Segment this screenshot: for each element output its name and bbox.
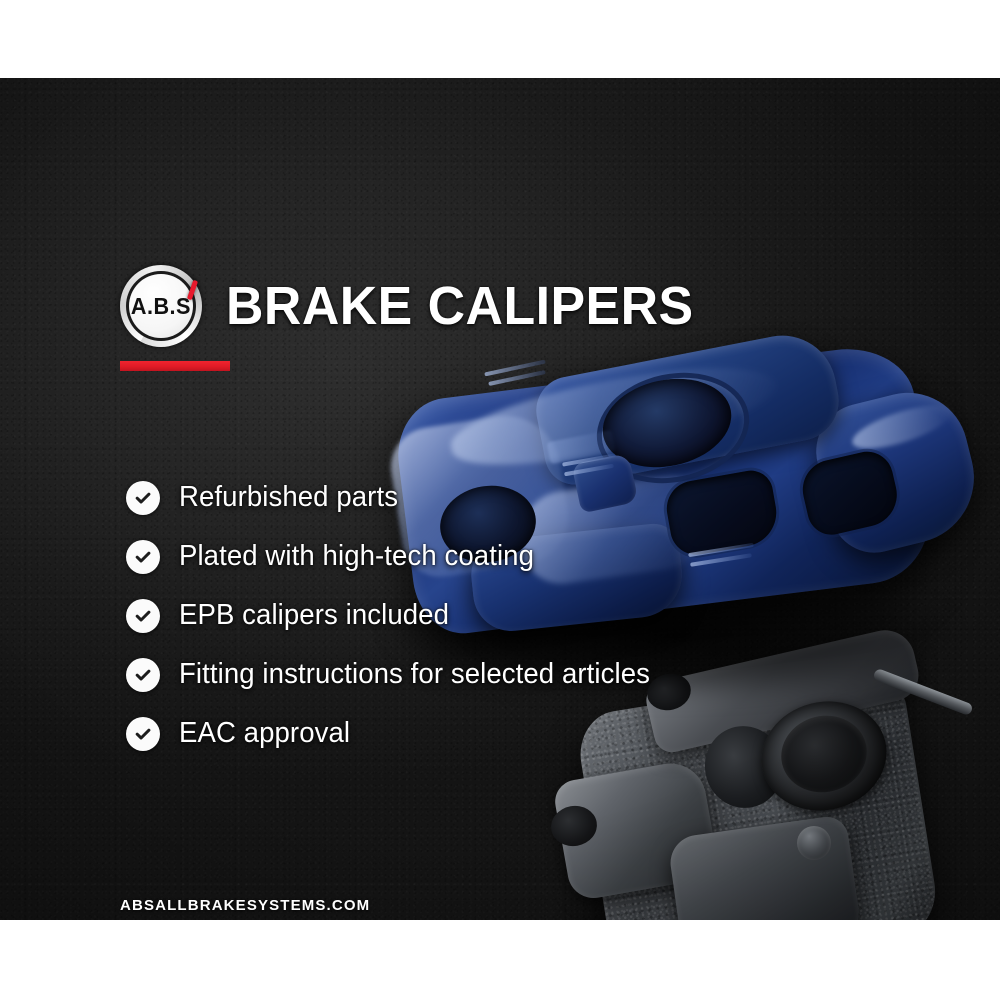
banner-header: A.B.S BRAKE CALIPERS [120, 243, 713, 369]
list-item: Plated with high-tech coating [126, 527, 806, 586]
list-item: EAC approval [126, 704, 806, 763]
abs-logo-icon: A.B.S [120, 265, 202, 347]
check-circle-icon [126, 717, 160, 751]
list-item: Refurbished parts [126, 468, 806, 527]
feature-label: EAC approval [179, 719, 350, 748]
feature-label: Refurbished parts [179, 483, 398, 512]
feature-label: Fitting instructions for selected articl… [179, 660, 650, 689]
feature-list: Refurbished parts Plated with high-tech … [126, 468, 806, 763]
logo-disc: A.B.S [129, 274, 193, 338]
logo-wordmark: A.B.S [131, 295, 191, 318]
feature-label: EPB calipers included [179, 601, 449, 630]
list-item: Fitting instructions for selected articl… [126, 645, 806, 704]
check-circle-icon [126, 481, 160, 515]
promo-banner-page: A.B.S BRAKE CALIPERS Refurbished parts [0, 0, 1000, 1000]
footer-website-url: ABSALLBRAKESYSTEMS.COM [120, 898, 370, 913]
page-title: BRAKE CALIPERS [226, 279, 694, 333]
check-circle-icon [126, 599, 160, 633]
feature-label: Plated with high-tech coating [179, 542, 534, 571]
accent-rule [120, 361, 230, 371]
list-item: EPB calipers included [126, 586, 806, 645]
check-circle-icon [126, 658, 160, 692]
check-circle-icon [126, 540, 160, 574]
dark-banner-panel: A.B.S BRAKE CALIPERS Refurbished parts [0, 78, 1000, 920]
